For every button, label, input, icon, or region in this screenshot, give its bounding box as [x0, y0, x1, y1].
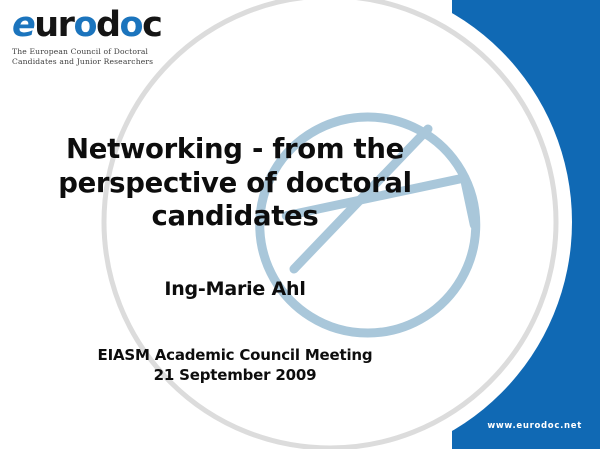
- blue-side-panel: [452, 0, 600, 449]
- slide-title: Networking - from the perspective of doc…: [20, 133, 450, 234]
- meeting-details: EIASM Academic Council Meeting 21 Septem…: [20, 345, 450, 386]
- presenter-name: Ing-Marie Ahl: [20, 278, 450, 300]
- slide-content: Networking - from the perspective of doc…: [0, 0, 470, 449]
- meeting-event-name: EIASM Academic Council Meeting: [20, 345, 450, 365]
- meeting-date: 21 September 2009: [20, 365, 450, 385]
- footer-website-url[interactable]: www.eurodoc.net: [487, 421, 582, 431]
- presentation-slide: eurodoc The European Council of Doctoral…: [0, 0, 600, 449]
